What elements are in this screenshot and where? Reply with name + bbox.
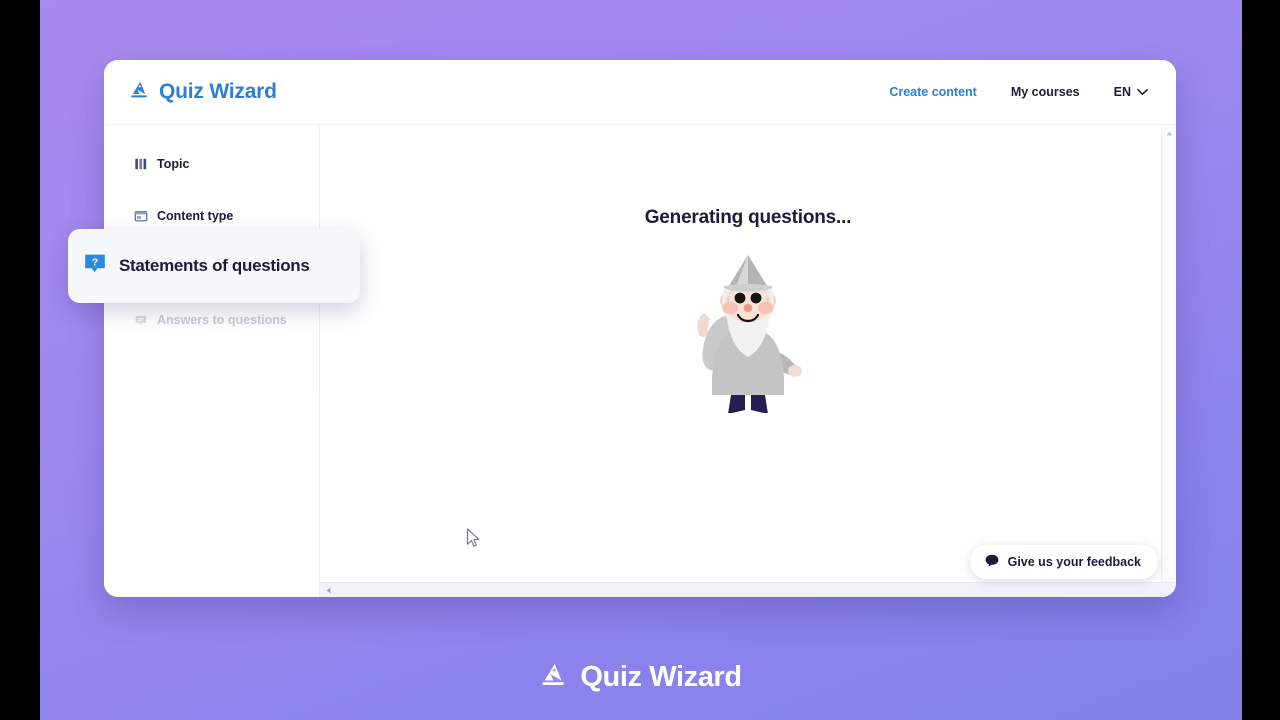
sidebar-item-content-type[interactable]: Content type <box>104 205 320 227</box>
footer-brand-title: Quiz Wizard <box>580 661 741 694</box>
mouse-pointer-icon <box>466 528 482 550</box>
horizontal-scrollbar[interactable] <box>320 582 1176 597</box>
main-content-panel: Generating questions... <box>320 125 1176 597</box>
content-type-window-icon <box>134 209 148 223</box>
language-switcher[interactable]: EN <box>1114 85 1148 99</box>
caret-up-icon[interactable] <box>1162 127 1176 140</box>
svg-text:?: ? <box>92 256 98 268</box>
app-body: Topic Content type Statements of quest <box>104 125 1176 597</box>
give-feedback-button[interactable]: Give us your feedback <box>970 545 1158 579</box>
page-title: Generating questions... <box>645 207 852 229</box>
wizard-mascot-illustration <box>683 253 813 413</box>
wizard-hat-icon <box>538 660 568 695</box>
caret-left-icon[interactable] <box>322 583 335 597</box>
topic-columns-icon <box>134 157 148 171</box>
vertical-scrollbar[interactable] <box>1161 125 1176 597</box>
app-window: Quiz Wizard Create content My courses EN <box>104 60 1176 597</box>
sidebar-item-label: Topic <box>157 157 189 171</box>
callout-label: Statements of questions <box>119 256 310 276</box>
nav-my-courses[interactable]: My courses <box>1011 85 1080 99</box>
brand-title: Quiz Wizard <box>159 80 277 104</box>
feedback-label: Give us your feedback <box>1008 555 1141 569</box>
sidebar-item-label: Answers to questions <box>157 313 287 327</box>
sidebar-item-answers-to-questions: Answers to questions <box>104 309 320 331</box>
wizard-hat-icon <box>128 79 150 106</box>
callout-statements-of-questions[interactable]: ? Statements of questions <box>68 229 360 303</box>
nav-create-content[interactable]: Create content <box>889 85 977 99</box>
letterbox-right <box>1242 0 1280 720</box>
language-label: EN <box>1114 85 1131 99</box>
answer-bubble-icon <box>134 313 148 327</box>
letterbox-left <box>0 0 40 720</box>
app-header: Quiz Wizard Create content My courses EN <box>104 60 1176 125</box>
chevron-down-icon <box>1137 85 1148 99</box>
sidebar-item-topic[interactable]: Topic <box>104 153 320 175</box>
screen: Quiz Wizard Create content My courses EN <box>0 0 1280 720</box>
speech-bubble-icon <box>985 554 999 570</box>
header-nav: Create content My courses EN <box>889 85 1148 99</box>
sidebar: Topic Content type Statements of quest <box>104 125 320 597</box>
sidebar-item-label: Content type <box>157 209 233 223</box>
question-bubble-icon: ? <box>84 253 106 280</box>
footer-brand: Quiz Wizard <box>0 660 1280 695</box>
brand-logo[interactable]: Quiz Wizard <box>128 79 277 106</box>
